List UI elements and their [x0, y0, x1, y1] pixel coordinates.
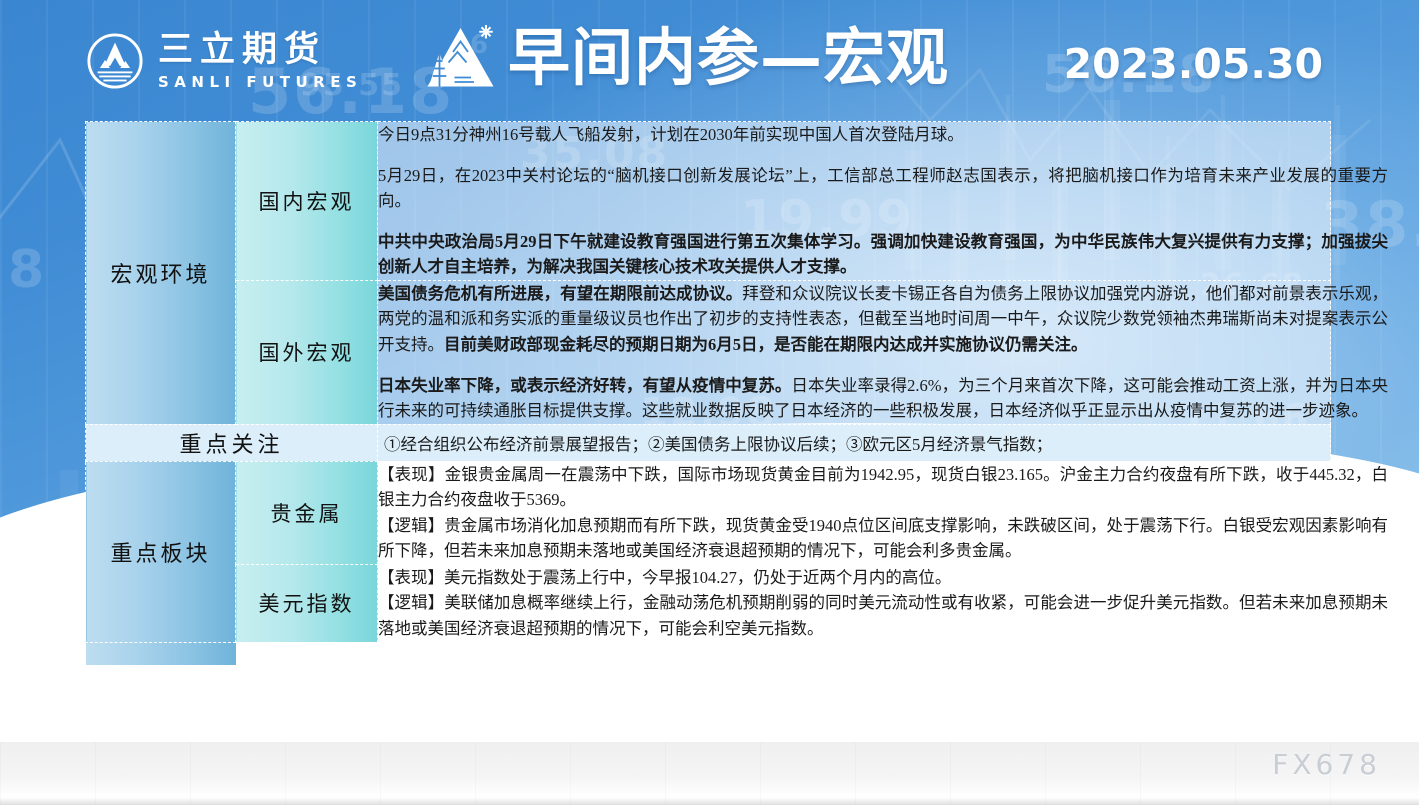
content-foreign: 美国债务危机有所进展，有望在期限前达成协议。拜登和众议院议长麦卡锡正各自为债务上… [378, 280, 1331, 424]
subsection-label-foreign: 国外宏观 [236, 280, 378, 424]
table-row-tail [86, 642, 1331, 665]
precious-metals-paragraph-2: 【逻辑】贵金属市场消化加息预期而有所下跌，现货黄金受1940点位区间底支撑影响，… [378, 513, 1388, 564]
table-row-focus: 重点关注 ①经合组织公布经济前景展望报告；②美国债务上限协议后续；③欧元区5月经… [86, 424, 1331, 461]
content-precious-metals: 【表现】金银贵金属周一在震荡中下跌，国际市场现货黄金目前为1942.95，现货白… [378, 461, 1331, 564]
subsection-label-precious-metals: 贵金属 [236, 461, 378, 564]
domestic-paragraph-2: 5月29日，在2023中关村论坛的“脑机接口创新发展论坛”上，工信部总工程师赵志… [378, 163, 1388, 214]
watermark: FX678 [1272, 748, 1381, 781]
brand-text: 三立期货 SANLI FUTURES [158, 30, 362, 92]
tail-cell-c [378, 642, 1331, 665]
section-label-focus: 重点关注 [86, 424, 378, 461]
domestic-paragraph-3: 中共中央政治局5月29日下午就建设教育强国进行第五次集体学习。强调加快建设教育强… [378, 229, 1388, 280]
tail-cell-b [236, 642, 378, 665]
content-domestic: 今日9点31分神州16号载人飞船发射，计划在2030年前实现中国人首次登陆月球。… [378, 122, 1331, 281]
section-label-macro-env: 宏观环境 [86, 122, 236, 425]
table-row-domestic: 宏观环境 国内宏观 今日9点31分神州16号载人飞船发射，计划在2030年前实现… [86, 122, 1331, 281]
brand-name-en: SANLI FUTURES [158, 72, 362, 92]
dollar-index-paragraph-1: 【表现】美元指数处于震荡上行中，今早报104.27，仍处于近两个月内的高位。 [378, 565, 1388, 591]
macro-report-table: 宏观环境 国内宏观 今日9点31分神州16号载人飞船发射，计划在2030年前实现… [85, 121, 1331, 665]
domestic-paragraph-1: 今日9点31分神州16号载人飞船发射，计划在2030年前实现中国人首次登陆月球。 [378, 122, 1388, 148]
foreign-paragraph-2: 日本失业率下降，或表示经济好转，有望从疫情中复苏。日本失业率录得2.6%，为三个… [378, 373, 1388, 424]
background-footer-lines [0, 742, 1419, 805]
mountain-star-icon [424, 22, 500, 94]
content-focus: ①经合组织公布经济前景展望报告；②美国债务上限协议后续；③欧元区5月经济景气指数… [378, 424, 1331, 461]
table-row-dollar-index: 美元指数 【表现】美元指数处于震荡上行中，今早报104.27，仍处于近两个月内的… [86, 564, 1331, 642]
table-row-precious-metals: 重点板块 贵金属 【表现】金银贵金属周一在震荡中下跌，国际市场现货黄金目前为19… [86, 461, 1331, 564]
report-date: 2023.05.30 [1064, 40, 1323, 88]
section-label-key-sectors: 重点板块 [86, 461, 236, 642]
foreign-paragraph-1: 美国债务危机有所进展，有望在期限前达成协议。拜登和众议院议长麦卡锡正各自为债务上… [378, 281, 1388, 358]
page-header: 三立期货 SANLI FUTURES 早间内参 [0, 0, 1419, 118]
tail-cell-a [86, 642, 236, 665]
foreign-p2-lead: 日本失业率下降，或表示经济好转，有望从疫情中复苏。 [378, 376, 791, 395]
table-row-foreign: 国外宏观 美国债务危机有所进展，有望在期限前达成协议。拜登和众议院议长麦卡锡正各… [86, 280, 1331, 424]
foreign-p1-lead: 美国债务危机有所进展，有望在期限前达成协议。 [378, 284, 742, 303]
mountain-circle-logo-icon [86, 32, 144, 90]
brand-name-cn: 三立期货 [158, 30, 362, 70]
precious-metals-paragraph-1: 【表现】金银贵金属周一在震荡中下跌，国际市场现货黄金目前为1942.95，现货白… [378, 462, 1388, 513]
brand-logo: 三立期货 SANLI FUTURES [86, 30, 362, 92]
content-dollar-index: 【表现】美元指数处于震荡上行中，今早报104.27，仍处于近两个月内的高位。 【… [378, 564, 1331, 642]
dollar-index-paragraph-2: 【逻辑】美联储加息概率继续上行，金融动荡危机预期削弱的同时美元流动性或有收紧，可… [378, 590, 1388, 641]
background-number: 8 [8, 240, 46, 300]
page-title: 早间内参—宏观 [508, 22, 949, 94]
subsection-label-domestic: 国内宏观 [236, 122, 378, 281]
subsection-label-dollar-index: 美元指数 [236, 564, 378, 642]
foreign-p1-tail: 目前美财政部现金耗尽的预期日期为6月5日，是否能在期限内达成并实施协议仍需关注。 [444, 335, 1088, 354]
page-root: 56.18 35.08 19.99 56.18 38.99 11.66 26.6… [0, 0, 1419, 805]
page-title-group: 早间内参—宏观 [424, 22, 949, 94]
